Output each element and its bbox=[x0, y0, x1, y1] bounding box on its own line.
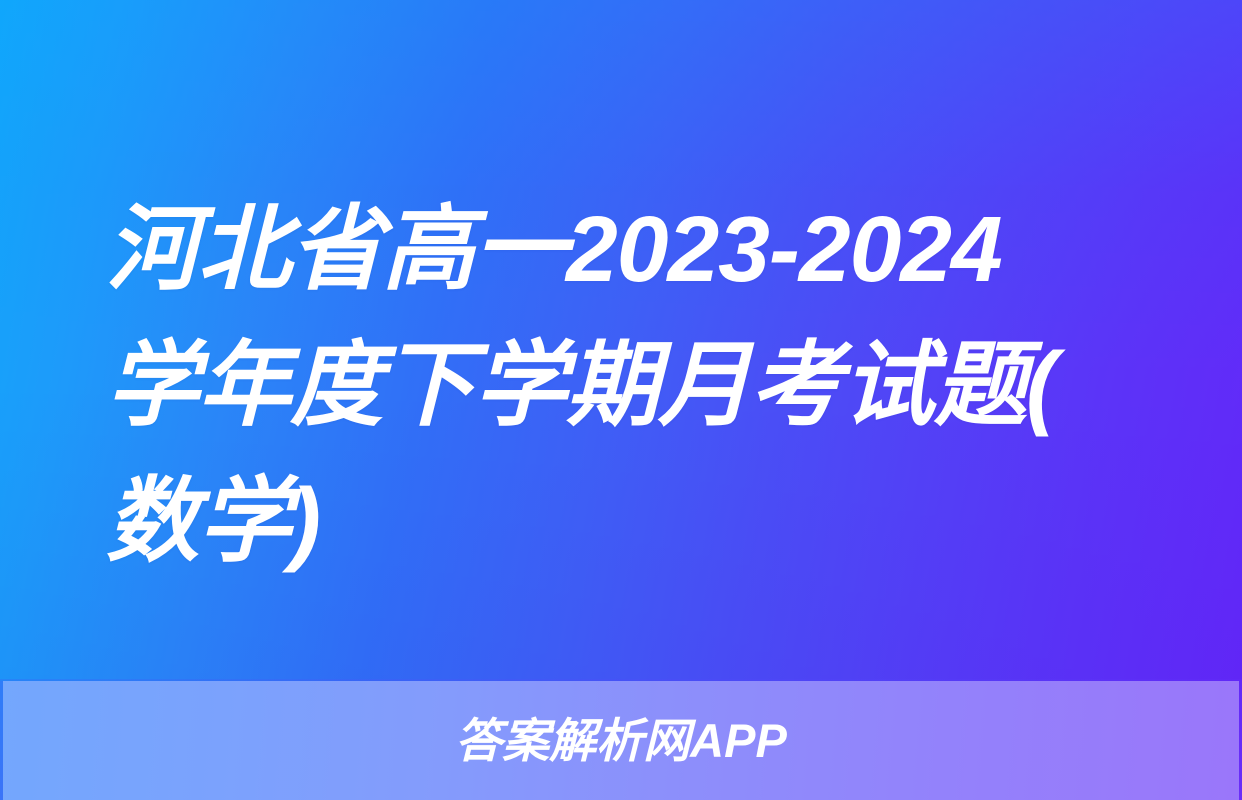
title-line-2: 学年度下学期月考试题( bbox=[106, 318, 1166, 454]
watermark-container: 答案解析网APP bbox=[0, 681, 1242, 800]
watermark-label: 答案解析网APP bbox=[455, 717, 787, 764]
title-line-1: 河北省高一2023-2024 bbox=[106, 182, 1166, 318]
title-line-3: 数学) bbox=[106, 454, 1166, 590]
poster-root: 河北省高一2023-2024 学年度下学期月考试题( 数学) 答案解析网APP bbox=[0, 0, 1242, 800]
page-title: 河北省高一2023-2024 学年度下学期月考试题( 数学) bbox=[106, 182, 1166, 589]
